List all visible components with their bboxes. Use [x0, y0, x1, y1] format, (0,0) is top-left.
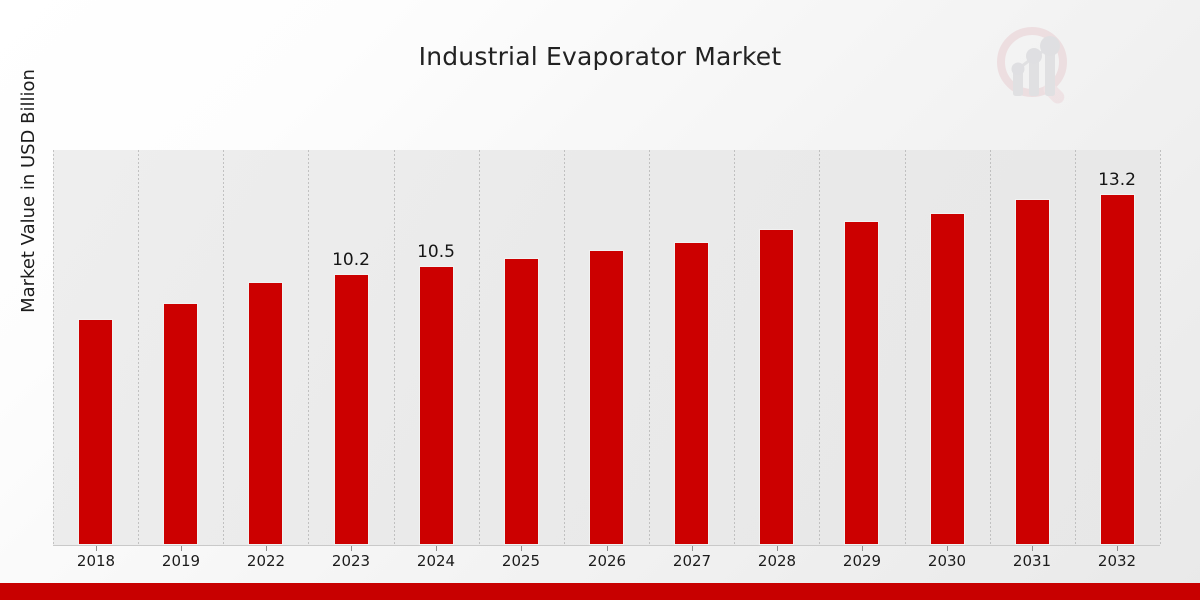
- x-axis-label-2025: 2025: [486, 552, 556, 570]
- x-axis-tick-2024: [436, 546, 437, 551]
- gridline: [223, 150, 224, 546]
- bar-value-label-2032: 13.2: [1082, 170, 1152, 190]
- x-axis-label-2032: 2032: [1082, 552, 1152, 570]
- x-axis-tick-2032: [1117, 546, 1118, 551]
- bar-2030[interactable]: [930, 213, 965, 545]
- bar-2019[interactable]: [163, 303, 198, 545]
- x-axis-label-2027: 2027: [657, 552, 727, 570]
- bar-value-label-2024: 10.5: [401, 242, 471, 262]
- x-axis-tick-2025: [521, 546, 522, 551]
- bar-2032[interactable]: [1100, 194, 1135, 545]
- x-axis-label-2031: 2031: [997, 552, 1067, 570]
- x-axis-tick-2027: [692, 546, 693, 551]
- bar-2028[interactable]: [759, 229, 794, 545]
- bottom-accent-strip: [0, 583, 1200, 600]
- gridline: [138, 150, 139, 546]
- gridline: [819, 150, 820, 546]
- bar-2018[interactable]: [78, 319, 113, 545]
- x-axis-label-2028: 2028: [742, 552, 812, 570]
- x-axis-tick-2031: [1032, 546, 1033, 551]
- x-axis-label-2029: 2029: [827, 552, 897, 570]
- x-axis-tick-2030: [947, 546, 948, 551]
- bar-value-label-2023: 10.2: [316, 250, 386, 270]
- bar-2025[interactable]: [504, 258, 539, 545]
- bar-2029[interactable]: [844, 221, 879, 545]
- gridline: [1075, 150, 1076, 546]
- x-axis-label-2026: 2026: [572, 552, 642, 570]
- x-axis-tick-2019: [181, 546, 182, 551]
- x-axis-label-2022: 2022: [231, 552, 301, 570]
- bar-2027[interactable]: [674, 242, 709, 545]
- bar-2026[interactable]: [589, 250, 624, 545]
- x-axis-tick-2026: [607, 546, 608, 551]
- y-axis-line: [53, 150, 54, 546]
- gridline: [308, 150, 309, 546]
- x-axis-tick-2022: [266, 546, 267, 551]
- y-axis-title: Market Value in USD Billion: [16, 0, 42, 386]
- bar-2031[interactable]: [1015, 199, 1050, 545]
- gridline: [905, 150, 906, 546]
- bar-2024[interactable]: [419, 266, 454, 545]
- chart-canvas: Industrial Evaporator Market Market Valu…: [0, 0, 1200, 600]
- x-axis-label-2030: 2030: [912, 552, 982, 570]
- gridline: [734, 150, 735, 546]
- magnifier-bar-chart-logo-icon: [988, 22, 1086, 114]
- gridline: [479, 150, 480, 546]
- x-axis-label-2019: 2019: [146, 552, 216, 570]
- x-axis-tick-2018: [96, 546, 97, 551]
- x-axis-tick-2029: [862, 546, 863, 551]
- gridline: [990, 150, 991, 546]
- gridline: [394, 150, 395, 546]
- x-axis-tick-2023: [351, 546, 352, 551]
- x-axis-label-2024: 2024: [401, 552, 471, 570]
- gridline: [1160, 150, 1161, 546]
- x-axis-tick-2028: [777, 546, 778, 551]
- gridline: [564, 150, 565, 546]
- bar-2023[interactable]: [334, 274, 369, 545]
- gridline: [649, 150, 650, 546]
- x-axis-label-2023: 2023: [316, 552, 386, 570]
- x-axis-label-2018: 2018: [61, 552, 131, 570]
- bar-2022[interactable]: [248, 282, 283, 545]
